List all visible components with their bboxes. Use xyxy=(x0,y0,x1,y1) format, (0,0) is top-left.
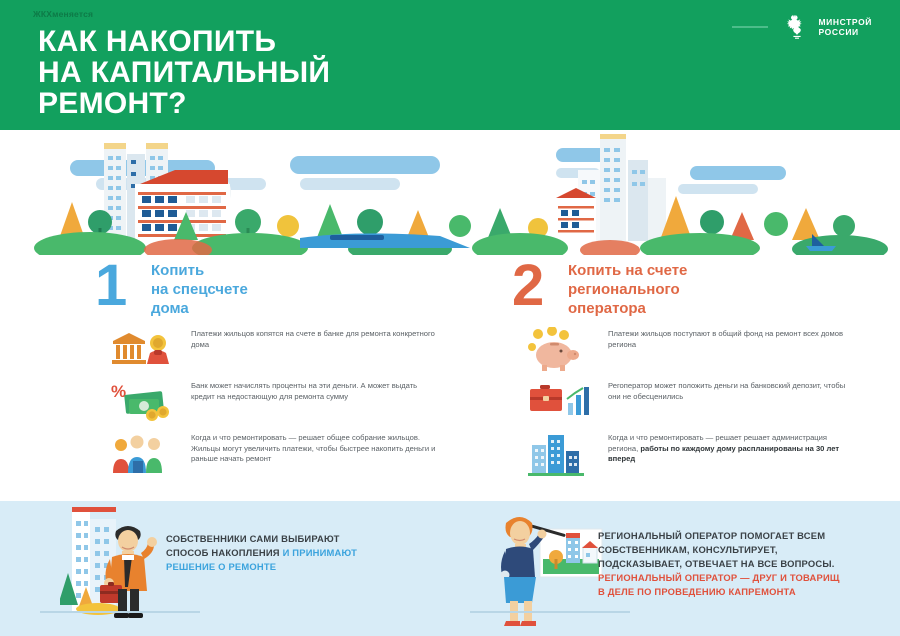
footer-right-line3: ПОДСКАЗЫВАЕТ, ОТВЕЧАЕТ НА ВСЕ ВОПРОСЫ. xyxy=(598,557,888,571)
cityscape-illustration xyxy=(0,130,900,255)
ministry-name: МИНСТРОЙ РОССИИ xyxy=(818,17,872,37)
footer-left-line3: РЕШЕНИЕ О РЕМОНТЕ xyxy=(166,560,396,574)
percent-banknotes-coins-icon: % xyxy=(109,379,175,425)
footer-left-line1: СОБСТВЕННИКИ САМИ ВЫБИРАЮТ xyxy=(166,532,396,546)
options-section: 1 Копить на спецсчете дома xyxy=(0,255,900,501)
option-1-bullet-3-text: Когда и что ремонтировать — решает общее… xyxy=(191,433,441,465)
option-2-bullet-1: Платежи жильцов поступают в общий фонд н… xyxy=(512,327,900,379)
option-1-bullet-3: Когда и что ремонтировать — решает общее… xyxy=(95,431,485,483)
headline-line-2: НА КАПИТАЛЬНЫЙ xyxy=(38,57,558,88)
option-2-title: Копить на счете регионального оператора xyxy=(568,261,888,318)
option-column-2: 2 Копить на счете регионального оператор… xyxy=(512,255,900,483)
woman-presenter-with-pointer-icon xyxy=(480,501,610,636)
option-1-bullet-2: % Банк может начислять проценты на эти д… xyxy=(95,379,485,431)
option-1-bullet-1: Платежи жильцов копятся на счете в банке… xyxy=(95,327,485,379)
divider-rule xyxy=(732,26,768,28)
city-buildings-icon xyxy=(526,431,592,477)
footer-right-text: РЕГИОНАЛЬНЫЙ ОПЕРАТОР ПОМОГАЕТ ВСЕМ СОБС… xyxy=(598,529,888,599)
option-2-bullet-2-text: Регоператор может положить деньги на бан… xyxy=(608,381,858,402)
option-2-title-line3: оператора xyxy=(568,299,888,318)
option-2-bullet-2: Регоператор может положить деньги на бан… xyxy=(512,379,900,431)
option-2-bullet-1-text: Платежи жильцов поступают в общий фонд н… xyxy=(608,329,858,350)
piggy-bank-icon xyxy=(526,327,592,373)
option-1-title-line3: дома xyxy=(151,299,471,318)
option-1-number: 1 xyxy=(95,257,141,315)
option-1-title: Копить на спецсчете дома xyxy=(151,261,471,318)
cityscape-svg xyxy=(0,130,900,255)
footer-right-line5: В ДЕЛЕ ПО ПРОВЕДЕНИЮ КАПРЕМОНТА xyxy=(598,585,888,599)
footer-right-line1: РЕГИОНАЛЬНЫЙ ОПЕРАТОР ПОМОГАЕТ ВСЕМ xyxy=(598,529,888,543)
option-1-bullet-2-text: Банк может начислять проценты на эти ден… xyxy=(191,381,441,402)
option-2-bullet-3-text: Когда и что ремонтировать — решает решае… xyxy=(608,433,858,465)
footer-right-line2: СОБСТВЕННИКАМ, КОНСУЛЬТИРУЕТ, xyxy=(598,543,888,557)
ministry-logo: МИНСТРОЙ РОССИИ xyxy=(784,12,872,42)
option-1-header: 1 Копить на спецсчете дома xyxy=(95,255,485,327)
page-title: КАК НАКОПИТЬ НА КАПИТАЛЬНЫЙ РЕМОНТ? xyxy=(38,26,558,119)
option-1-title-line1: Копить xyxy=(151,261,471,280)
option-2-title-line2: регионального xyxy=(568,280,888,299)
option-2-header: 2 Копить на счете регионального оператор… xyxy=(512,255,900,327)
svg-text:%: % xyxy=(111,382,126,401)
right-floor-line xyxy=(470,611,630,613)
header-band: ЖКХменяется КАК НАКОПИТЬ НА КАПИТАЛЬНЫЙ … xyxy=(0,0,900,130)
ministry-name-line2: РОССИИ xyxy=(818,27,872,37)
option-2-number: 2 xyxy=(512,257,558,315)
footer-section: СОБСТВЕННИКИ САМИ ВЫБИРАЮТ СПОСОБ НАКОПЛ… xyxy=(0,501,900,636)
headline-line-1: КАК НАКОПИТЬ xyxy=(38,26,558,57)
footer-left-line2-dark: СПОСОБ НАКОПЛЕНИЯ xyxy=(166,547,283,558)
footer-left-line2-accent: И ПРИНИМАЮТ xyxy=(283,547,358,558)
headline-line-3: РЕМОНТ? xyxy=(38,88,558,119)
bank-and-coin-purse-icon xyxy=(109,327,175,373)
option-2-bullet-3: Когда и что ремонтировать — решает решае… xyxy=(512,431,900,483)
option-2-bullet-3-bold: работы по каждому дому распланированы на… xyxy=(608,444,839,464)
option-column-1: 1 Копить на спецсчете дома xyxy=(95,255,485,483)
ministry-name-line1: МИНСТРОЙ xyxy=(818,17,872,27)
footer-right-line4: РЕГИОНАЛЬНЫЙ ОПЕРАТОР — ДРУГ И ТОВАРИЩ xyxy=(598,571,888,585)
left-floor-line xyxy=(40,611,200,613)
option-1-bullet-1-text: Платежи жильцов копятся на счете в банке… xyxy=(191,329,441,350)
footer-left-text: СОБСТВЕННИКИ САМИ ВЫБИРАЮТ СПОСОБ НАКОПЛ… xyxy=(166,532,396,574)
people-meeting-icon xyxy=(109,431,175,477)
option-2-title-line1: Копить на счете xyxy=(568,261,888,280)
infographic-poster: ЖКХменяется КАК НАКОПИТЬ НА КАПИТАЛЬНЫЙ … xyxy=(0,0,900,636)
double-headed-eagle-icon xyxy=(784,13,810,41)
footer-left-line2: СПОСОБ НАКОПЛЕНИЯ И ПРИНИМАЮТ xyxy=(166,546,396,560)
briefcase-growth-chart-icon xyxy=(526,379,592,425)
brand-logo: ЖКХменяется xyxy=(33,9,93,19)
option-1-title-line2: на спецсчете xyxy=(151,280,471,299)
